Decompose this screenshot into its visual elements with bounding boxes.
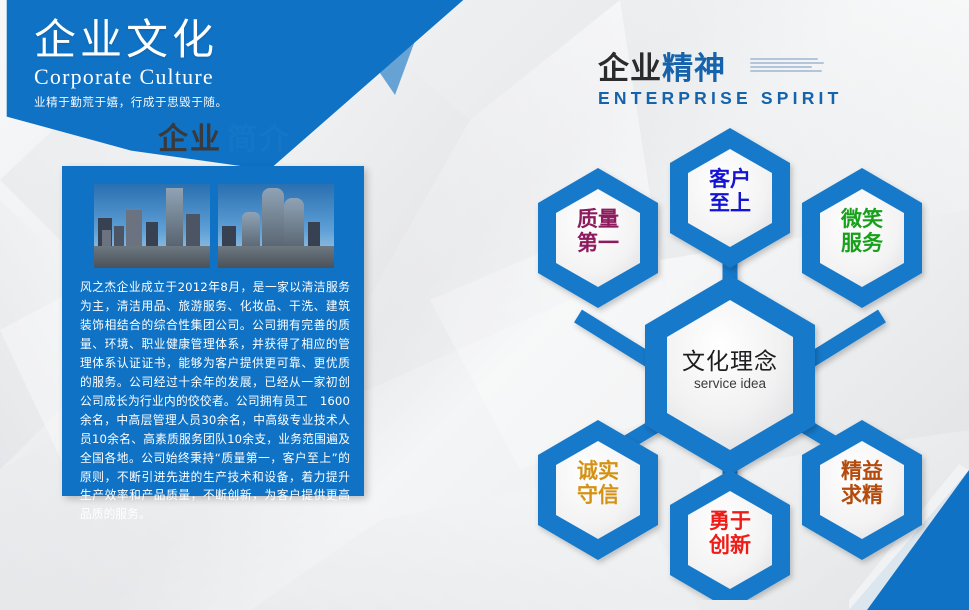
banner-text-block: 企业文化 Corporate Culture 业精于勤荒于嬉，行成于思毁于随。 [34, 18, 364, 110]
company-intro-text: 风之杰企业成立于2012年8月，是一家以清洁服务为主，清洁用品、旅游服务、化妆品… [80, 278, 350, 524]
city-photo-left [94, 184, 210, 268]
poster-canvas: 企业文化 Corporate Culture 业精于勤荒于嬉，行成于思毁于随。 … [0, 0, 969, 610]
company-intro-panel: 风之杰企业成立于2012年8月，是一家以清洁服务为主，清洁用品、旅游服务、化妆品… [62, 166, 364, 496]
spirit-title-blue: 精神 [662, 51, 726, 87]
hexagon-quality-first [538, 168, 658, 308]
hexagon-customer-first [670, 128, 790, 268]
spirit-title-en: ENTERPRISE SPIRIT [598, 88, 828, 109]
spirit-title-dark: 企业 [598, 51, 662, 87]
photo-strip [94, 184, 334, 268]
intro-heading: 企业简介 [158, 114, 291, 158]
banner-subtitle: 业精于勤荒于嬉，行成于思毁于随。 [34, 94, 364, 110]
intro-heading-dark: 企业 [158, 122, 222, 157]
banner-title-cn: 企业文化 [34, 18, 364, 62]
center-title-cn: 文化理念 [645, 342, 815, 376]
decorative-placeholder-lines [750, 58, 828, 84]
city-photo-right [218, 184, 334, 268]
center-title-en: service idea [645, 376, 815, 391]
spirit-heading: 企业精神 ENTERPRISE SPIRIT [598, 52, 828, 109]
hexagon-innovation [670, 470, 790, 600]
banner-title-en: Corporate Culture [34, 64, 364, 90]
culture-hexagon-diagram: 文化理念 service idea 客户 至上 微笑 服务 精益 求精 勇于 创… [490, 120, 969, 600]
intro-heading-blue: 简介 [227, 122, 291, 157]
hexagon-smile-service [802, 168, 922, 308]
